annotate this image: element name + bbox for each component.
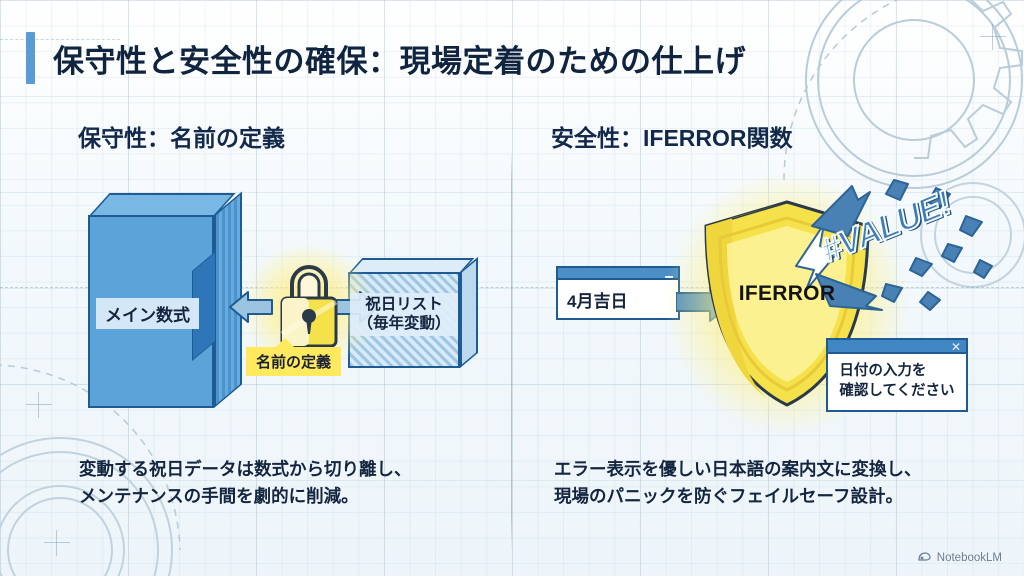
footer-brand-text: NotebookLM	[937, 552, 1002, 564]
left-caption: 変動する祝日データは数式から切り離し、 メンテナンスの手間を劇的に削減。	[79, 456, 412, 510]
message-dialog-body: 日付の入力を 確認してください	[826, 354, 968, 412]
title-accent-bar	[26, 32, 35, 84]
main-formula-box-top-face	[88, 193, 236, 217]
column-divider	[511, 150, 512, 550]
input-window[interactable]: 4月吉日	[556, 266, 680, 320]
page-title: 保守性と安全性の確保：現場定着のための仕上げ	[26, 32, 746, 84]
crosshair-marker-bottom-left	[44, 530, 70, 556]
arrow-left-icon	[228, 288, 274, 326]
named-range-tooltip: 名前の定義	[246, 347, 341, 376]
page-title-text: 保守性と安全性の確保：現場定着のための仕上げ	[53, 36, 746, 81]
main-formula-label: メイン数式	[96, 298, 199, 329]
holiday-list-label: 祝日リスト （毎年変動）	[350, 293, 458, 336]
input-window-body: 4月吉日	[556, 280, 680, 320]
crosshair-marker-left	[26, 392, 52, 418]
message-dialog[interactable]: ✕ 日付の入力を 確認してください	[826, 338, 968, 412]
notebooklm-logo-icon	[918, 551, 931, 564]
arc-decoration-right	[774, 0, 1014, 190]
slide-canvas: 保守性と安全性の確保：現場定着のための仕上げ 保守性：名前の定義 安全性：IFE…	[0, 0, 1024, 576]
footer-brand: NotebookLM	[918, 551, 1002, 564]
input-window-titlebar	[556, 266, 680, 280]
right-caption: エラー表示を優しい日本語の案内文に変換し、 現場のパニックを防ぐフェイルセーフ設…	[554, 456, 922, 510]
crosshair-marker-top-right	[980, 24, 1006, 50]
input-value: 4月吉日	[558, 287, 627, 312]
close-icon[interactable]: ✕	[951, 339, 961, 355]
right-column-heading: 安全性：IFERROR関数	[551, 119, 793, 153]
holiday-list-box-side-face	[460, 257, 478, 368]
shield-label: IFERROR	[692, 282, 882, 306]
message-dialog-titlebar: ✕	[826, 338, 968, 354]
padlock-icon	[274, 258, 344, 350]
message-dialog-text: 日付の入力を 確認してください	[839, 362, 954, 401]
left-column-heading: 保守性：名前の定義	[78, 119, 285, 153]
